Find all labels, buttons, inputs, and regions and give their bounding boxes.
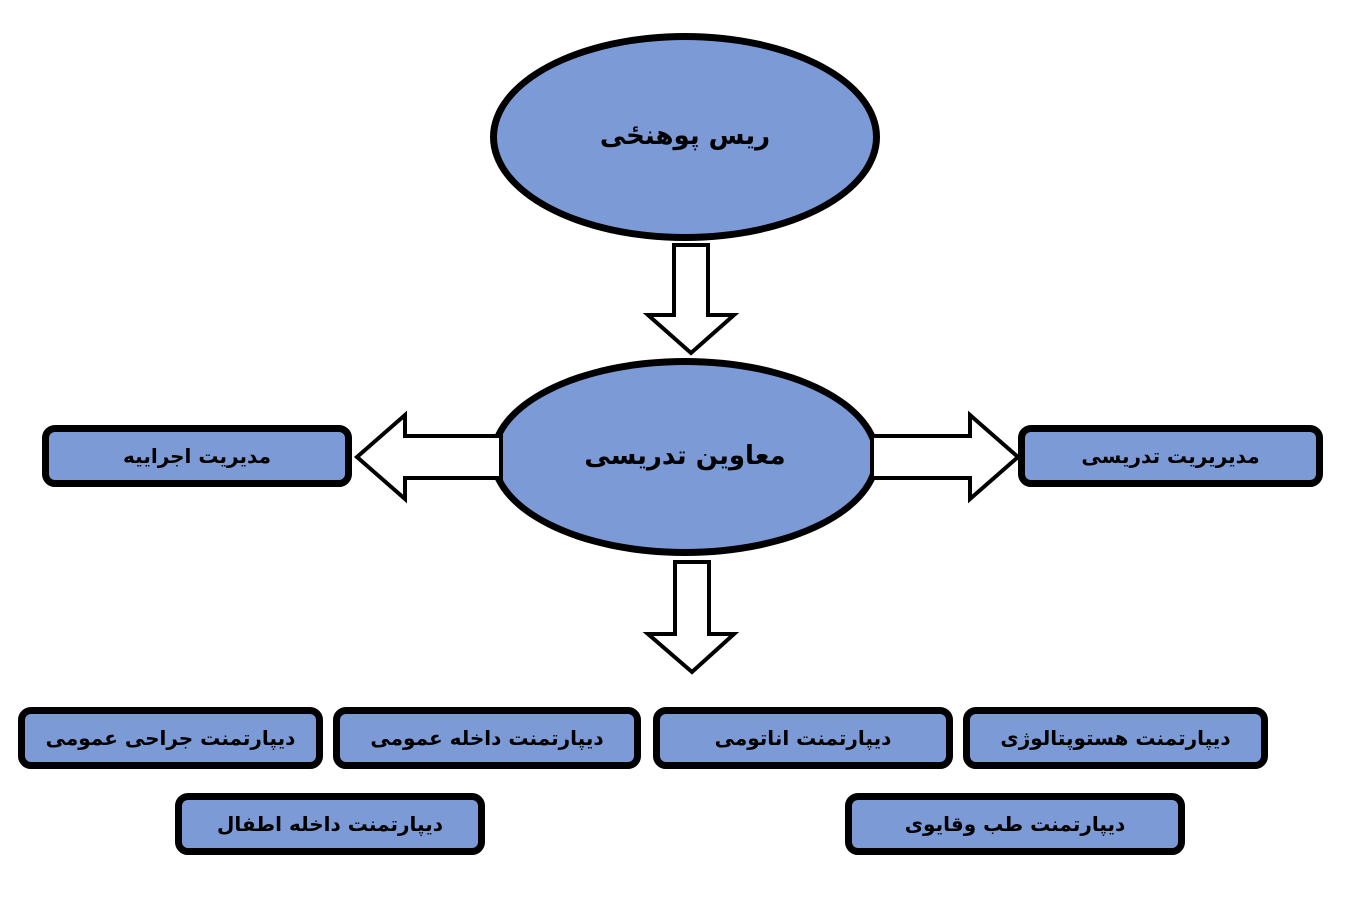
node-teaching-management-label: مدیریریت تدریسی xyxy=(1075,445,1265,468)
node-executive-management[interactable]: مدیریت اجراییه xyxy=(42,425,352,487)
node-department-general-internal-medicine-label: دیپارتمنت داخله عمومی xyxy=(364,727,609,750)
node-department-general-surgery[interactable]: دیپارتمنت جراحی عمومی xyxy=(18,707,323,769)
node-department-histopathology[interactable]: دیپارتمنت هستوپتالوژی xyxy=(963,707,1268,769)
node-academic-deputy[interactable]: معاوین تدریسی xyxy=(490,358,880,556)
node-department-general-internal-medicine[interactable]: دیپارتمنت داخله عمومی xyxy=(333,707,641,769)
node-executive-management-label: مدیریت اجراییه xyxy=(117,445,277,468)
arrow-deputy-to-teaching xyxy=(868,412,1020,502)
node-department-preventive-medicine-label: دیپارتمنت طب وقایوی xyxy=(899,813,1132,836)
node-department-pediatrics-label: دیپارتمنت داخله اطفال xyxy=(211,813,449,836)
arrow-deputy-to-executive xyxy=(355,412,503,502)
org-chart-canvas: ریس پوهنځی معاوین تدریسی مدیریت اجراییه … xyxy=(0,0,1346,900)
node-department-general-surgery-label: دیپارتمنت جراحی عمومی xyxy=(40,727,302,750)
node-department-anatomy-label: دیپارتمنت اناتومی xyxy=(709,727,898,750)
node-department-anatomy[interactable]: دیپارتمنت اناتومی xyxy=(653,707,953,769)
node-department-histopathology-label: دیپارتمنت هستوپتالوژی xyxy=(994,727,1236,750)
node-teaching-management[interactable]: مدیریریت تدریسی xyxy=(1018,425,1323,487)
node-academic-deputy-label: معاوین تدریسی xyxy=(584,442,785,472)
arrow-dean-to-deputy xyxy=(645,243,737,355)
node-department-pediatrics[interactable]: دیپارتمنت داخله اطفال xyxy=(175,793,485,855)
node-department-preventive-medicine[interactable]: دیپارتمنت طب وقایوی xyxy=(845,793,1185,855)
arrow-deputy-to-departments xyxy=(645,560,737,674)
node-dean[interactable]: ریس پوهنځی xyxy=(490,33,880,241)
node-dean-label: ریس پوهنځی xyxy=(600,122,770,152)
